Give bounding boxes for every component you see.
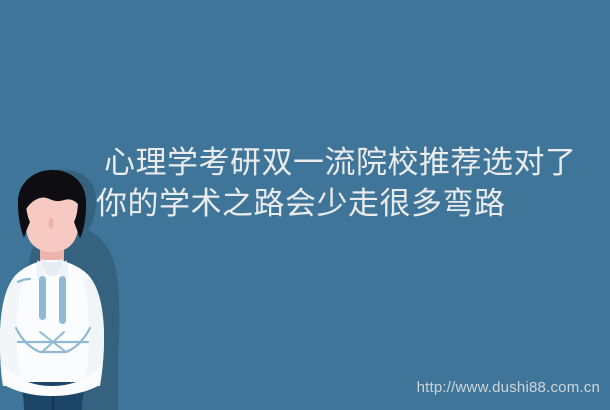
drawstring-left-shape <box>39 276 46 320</box>
site-url-watermark: http://www.dushi88.com.cn <box>417 379 600 396</box>
drawstring-right-shape <box>59 276 66 324</box>
headline-line-2: 你的学术之路会少走很多弯路 <box>96 183 596 224</box>
article-cover-banner: 心理学考研双一流院校推荐选对了 你的学术之路会少走很多弯路 http://www… <box>0 0 610 410</box>
headline-block: 心理学考研双一流院校推荐选对了 你的学术之路会少走很多弯路 <box>96 142 596 224</box>
headline-line-1: 心理学考研双一流院校推荐选对了 <box>96 142 596 183</box>
